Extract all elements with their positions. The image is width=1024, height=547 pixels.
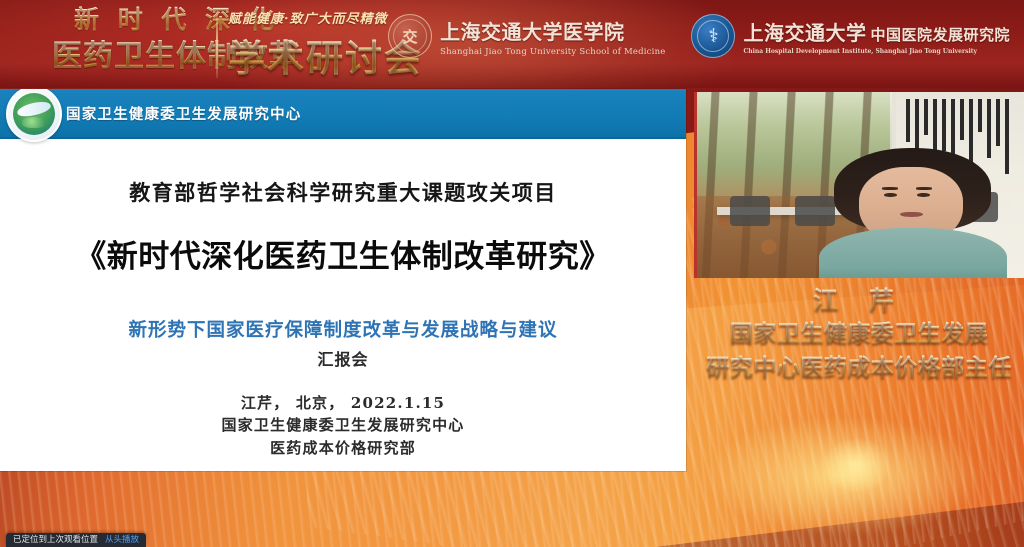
logo-chdi-en: China Hospital Development Institute, Sh…: [743, 48, 1010, 55]
slide-header-bar: 国家卫生健康委卫生发展研究中心: [0, 89, 686, 139]
background-glow-spot: [821, 438, 891, 493]
logo-chdi-cn-row: 上海交通大学 中国医院发展研究院: [743, 17, 1010, 46]
presenter-mouth: [900, 212, 923, 217]
slide-meta-line-1: 江芹， 北京， 2022.1.15: [0, 392, 686, 415]
resume-playback-message: 已定位到上次观看位置: [13, 533, 98, 547]
video-chair-2: [795, 196, 835, 226]
institute-seal-icon: ⚕: [691, 14, 735, 58]
logo-chdi-cn-primary: 上海交通大学: [743, 17, 866, 46]
university-seal-icon: 交: [388, 14, 432, 58]
presenter-brow-right: [916, 187, 932, 189]
presenter-eye-right: [917, 193, 929, 197]
event-banner: 新 时 代 深 化 医药卫生体制改革 赋能健康·致广大而尽精微 学术研讨会 交 …: [0, 0, 1024, 88]
slide-body: 教育部哲学社会科学研究重大课题攻关项目 《新时代深化医药卫生体制改革研究》 新形…: [0, 139, 686, 459]
banner-divider: [216, 10, 218, 78]
speaker-affiliation-line2: 研究中心医药成本价格部主任: [694, 351, 1024, 385]
slide-meta-block: 江芹， 北京， 2022.1.15 国家卫生健康委卫生发展研究中心 医药成本价格…: [0, 392, 686, 460]
video-chair-1: [730, 196, 770, 226]
presentation-slide[interactable]: 国家卫生健康委卫生发展研究中心 教育部哲学社会科学研究重大课题攻关项目 《新时代…: [0, 89, 686, 471]
logo-sjtu-medicine-en: Shanghai Jiao Tong University School of …: [440, 47, 665, 57]
resume-playback-toast: 已定位到上次观看位置 从头播放: [6, 533, 146, 547]
nhdrc-logo-emblem: [13, 93, 55, 135]
logo-sjtu-medicine-text: 上海交通大学医学院 Shanghai Jiao Tong University …: [440, 16, 665, 57]
slide-subtitle: 新形势下国家医疗保障制度改革与发展战略与建议: [0, 318, 686, 345]
slide-project-line: 教育部哲学社会科学研究重大课题攻关项目: [0, 177, 686, 207]
presenter-eye-left: [884, 193, 896, 197]
logo-sjtu-medicine: 交 上海交通大学医学院 Shanghai Jiao Tong Universit…: [388, 14, 665, 58]
presenter-torso: [819, 228, 1007, 278]
caduceus-icon: ⚕: [708, 27, 718, 46]
slide-meta-line-2: 国家卫生健康委卫生发展研究中心: [0, 414, 686, 437]
speaker-caption: 江 芹 国家卫生健康委卫生发展 研究中心医药成本价格部主任: [694, 285, 1024, 385]
logo-chdi-cn-secondary: 中国医院发展研究院: [870, 24, 1010, 45]
play-from-start-link[interactable]: 从头播放: [105, 533, 139, 547]
presenter-brow-left: [882, 187, 898, 189]
slide-header-org-name: 国家卫生健康委卫生发展研究中心: [66, 103, 302, 124]
speaker-name: 江 芹: [694, 285, 1024, 317]
logo-sjtu-medicine-cn: 上海交通大学医学院: [440, 16, 665, 45]
logo-chdi: ⚕ 上海交通大学 中国医院发展研究院 China Hospital Develo…: [691, 14, 1010, 58]
slide-main-title: 《新时代深化医药卫生体制改革研究》: [0, 231, 686, 276]
slide-subtitle-secondary: 汇报会: [0, 346, 686, 370]
video-player-stage: 新 时 代 深 化 医药卫生体制改革 赋能健康·致广大而尽精微 学术研讨会 交 …: [0, 0, 1024, 547]
banner-logo-group: 交 上海交通大学医学院 Shanghai Jiao Tong Universit…: [388, 14, 1010, 58]
presenter-video-panel[interactable]: [694, 92, 1024, 278]
presenter-figure: [834, 148, 991, 278]
logo-chdi-text: 上海交通大学 中国医院发展研究院 China Hospital Developm…: [743, 17, 1010, 55]
slide-meta-line-3: 医药成本价格研究部: [0, 437, 686, 460]
speaker-affiliation-line1: 国家卫生健康委卫生发展: [694, 317, 1024, 351]
nhdrc-logo-icon: [6, 89, 62, 142]
seal-mark-text: 交: [403, 26, 418, 47]
